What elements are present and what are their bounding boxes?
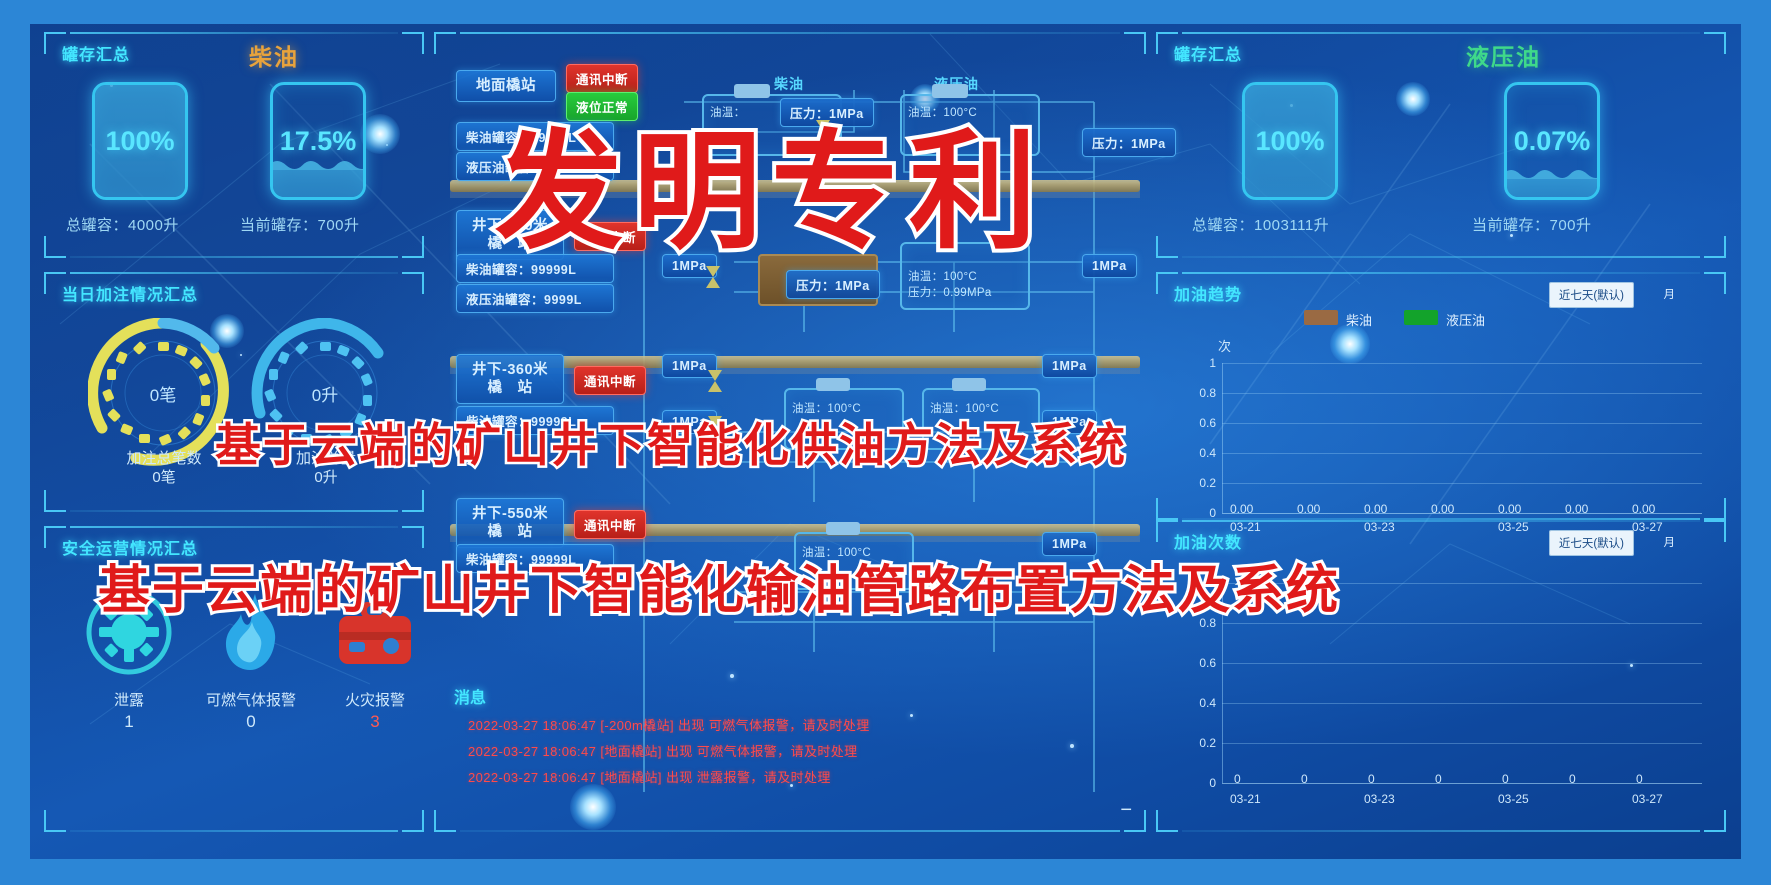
- trend-point-label: 0.00: [1632, 502, 1655, 516]
- count-gridline: [1222, 623, 1702, 624]
- safety-item-gas-alarm-value: 0: [186, 712, 316, 732]
- safety-item-gas-alarm: 可燃气体报警 0: [186, 586, 316, 732]
- message-log: 消息 2022-03-27 18:06:47 [-200m橇站] 出现 可燃气体…: [454, 684, 1124, 786]
- gear-icon: [83, 586, 175, 678]
- count-chart-title: 加油次数: [1174, 529, 1242, 553]
- station-2-comm-status: 通讯中断: [574, 222, 646, 251]
- safety-item-leak-value: 1: [74, 712, 184, 732]
- toolbox-icon: [329, 586, 421, 678]
- refuel-volume-gauge-value: 0升: [250, 318, 400, 468]
- station-1-hydraulic-tank-cap: [932, 84, 968, 98]
- left-total-tank-gauge: 100%: [92, 82, 188, 200]
- refuel-count-caption-label: 加注总笔数: [126, 450, 201, 467]
- count-axis-baseline: [1222, 783, 1702, 784]
- safety-item-gas-alarm-label: 可燃气体报警: [186, 689, 316, 710]
- count-point-label: 0: [1234, 772, 1241, 786]
- right-current-stock-label: 当前罐存：700升: [1472, 214, 1592, 235]
- station-3-valve-icon-2: [706, 414, 724, 440]
- station-1-diesel-tank-cap: [734, 84, 770, 98]
- station-3-tank-left-cap: [816, 378, 850, 391]
- station-3-valve-icon-1: [706, 368, 724, 394]
- station-4-tank: [794, 532, 914, 590]
- trend-point-label: 0.00: [1297, 502, 1320, 516]
- refuel-count-caption: 加注总笔数 0笔: [96, 450, 232, 488]
- station-1-diesel-capacity: 柴油罐容：99999L: [456, 122, 614, 151]
- station-4-name-line1: 井下-550米: [472, 506, 548, 522]
- count-x-tick: 03-27: [1632, 792, 1663, 806]
- station-2-name-line1: 井下-200米: [472, 218, 548, 234]
- count-y-tick: 0.2: [1180, 736, 1216, 750]
- station-3-temp-tag-right: 油温：100°C: [930, 400, 999, 416]
- count-gridline: [1222, 703, 1702, 704]
- station-3-diesel-capacity: 柴油罐容：99999L: [456, 406, 614, 435]
- station-2-pressure-2: 1MPa: [1082, 254, 1137, 278]
- trend-y-axis-unit: 次: [1218, 336, 1231, 355]
- refuel-volume-caption-label: 加注总量: [296, 450, 356, 467]
- station-3-temp-tag-left: 油温：100°C: [792, 400, 861, 416]
- station-4-tank-cap: [826, 522, 860, 535]
- left-safety-panel: 安全运营情况汇总: [44, 526, 424, 832]
- right-count-chart-panel: 加油次数 近七天(默认) 月 1 0.8 0.6 0.4 0.2 0 0 0 0…: [1156, 520, 1726, 832]
- count-y-tick: 1: [1180, 576, 1216, 590]
- message-log-line: 2022-03-27 18:06:47 [地面橇站] 出现 泄露报警，请及时处理: [468, 767, 1124, 786]
- station-4-name-line2: 橇 站: [488, 524, 533, 540]
- station-4-comm-status: 通讯中断: [574, 510, 646, 539]
- right-total-capacity-label: 总罐容：1003111升: [1192, 214, 1329, 235]
- flame-icon: [205, 586, 297, 678]
- trend-y-tick: 0.8: [1180, 386, 1216, 400]
- count-point-label: 0: [1301, 772, 1308, 786]
- refuel-count-gauge: 0笔: [88, 318, 238, 468]
- center-schematic-panel: 柴油 液压油 地面橇站 通讯中断 液位正常 柴油罐容：99999L 液压油罐容：…: [434, 32, 1146, 832]
- station-1-hyd-temp-tag: 油温：100°C: [908, 104, 977, 120]
- trend-point-label: 0.00: [1565, 502, 1588, 516]
- trend-y-tick: 0.6: [1180, 416, 1216, 430]
- trend-gridline: [1222, 363, 1702, 364]
- count-gridline: [1222, 743, 1702, 744]
- station-4-diesel-capacity: 柴油罐容：99999L: [456, 544, 614, 573]
- oil-header-diesel: 柴油: [774, 74, 804, 94]
- trend-gridline: [1222, 393, 1702, 394]
- station-1-comm-status: 通讯中断: [566, 64, 638, 93]
- refuel-volume-caption: 加注总量 0升: [258, 450, 394, 488]
- station-4-pressure-1: 1MPa: [1042, 532, 1097, 556]
- left-total-capacity-label: 总罐容：4000升: [66, 214, 179, 235]
- count-y-tick: 0: [1180, 776, 1216, 790]
- safety-item-leak-label: 泄露: [74, 689, 184, 710]
- trend-y-axis-line: [1222, 363, 1223, 513]
- trend-y-tick: 1: [1180, 356, 1216, 370]
- count-point-label: 0: [1569, 772, 1576, 786]
- trend-point-label: 0.00: [1230, 502, 1253, 516]
- trend-range-week-button[interactable]: 近七天(默认): [1549, 282, 1634, 308]
- trend-y-tick: 0.4: [1180, 446, 1216, 460]
- station-3-pressure-4: 1MPa: [1042, 410, 1097, 434]
- station-1-temp-tag: 油温：: [710, 104, 745, 120]
- right-total-tank-gauge: 100%: [1242, 82, 1338, 200]
- station-2-name-line2: 橇 站: [488, 236, 533, 252]
- count-x-tick: 03-21: [1230, 792, 1261, 806]
- trend-range-month-button[interactable]: 月: [1655, 282, 1685, 306]
- left-oil-type-label: 柴油: [249, 38, 299, 72]
- count-point-label: 0: [1636, 772, 1643, 786]
- station-3-tank-right-cap: [952, 378, 986, 391]
- refuel-count-caption-value: 0笔: [152, 469, 175, 486]
- safety-item-fire-alarm-value: 3: [320, 712, 430, 732]
- trend-point-label: 0.00: [1364, 502, 1387, 516]
- station-1-hydraulic-capacity: 液压油罐容：9999L: [456, 152, 614, 181]
- station-3-name-line1: 井下-360米: [472, 362, 548, 378]
- count-y-axis-line: [1222, 583, 1223, 783]
- right-tank-panel: 罐存汇总 液压油 100% 总罐容：1003111升 0.07% 当前罐存：70…: [1156, 32, 1726, 258]
- refuel-count-gauge-value: 0笔: [88, 318, 238, 468]
- station-3-comm-status: 通讯中断: [574, 366, 646, 395]
- trend-axis-baseline: [1222, 513, 1702, 514]
- count-y-tick: 0.6: [1180, 656, 1216, 670]
- ground-pipe-1: [450, 180, 1140, 192]
- count-y-tick: 0.4: [1180, 696, 1216, 710]
- trend-gridline: [1222, 423, 1702, 424]
- station-4-temp-tag: 油温：100°C: [802, 544, 871, 560]
- message-log-line: 2022-03-27 18:06:47 [地面橇站] 出现 可燃气体报警，请及时…: [468, 741, 1124, 760]
- station-1-valve-icon: [814, 118, 832, 144]
- count-gridline: [1222, 663, 1702, 664]
- count-point-label: 0: [1435, 772, 1442, 786]
- left-current-tank-gauge: 17.5%: [270, 82, 366, 200]
- right-current-tank-percent: 0.07%: [1507, 85, 1597, 197]
- dashboard-board: 罐存汇总 柴油 100% 总罐容：4000升 17.5% 当前罐存：700升: [30, 24, 1741, 859]
- trend-legend-label-diesel: 柴油: [1346, 310, 1372, 329]
- refuel-volume-caption-value: 0升: [314, 469, 337, 486]
- right-tank-panel-title: 罐存汇总: [1174, 41, 1242, 65]
- left-current-tank-percent: 17.5%: [273, 85, 363, 197]
- station-2-valve-icon: [704, 264, 722, 290]
- count-point-label: 0: [1368, 772, 1375, 786]
- count-range-week-button[interactable]: 近七天(默认): [1549, 530, 1634, 556]
- station-1-level-status: 液位正常: [566, 92, 638, 121]
- station-1-name[interactable]: 地面橇站: [456, 70, 556, 102]
- trend-chart-title: 加油趋势: [1174, 281, 1242, 305]
- trend-legend-swatch-hydraulic: [1404, 310, 1438, 325]
- left-safety-panel-title: 安全运营情况汇总: [62, 535, 198, 559]
- trend-y-tick: 0.2: [1180, 476, 1216, 490]
- safety-item-leak: 泄露 1: [74, 586, 184, 732]
- station-2-pressure-tag: 压力：0.99MPa: [908, 284, 992, 300]
- trend-y-tick: 0: [1180, 506, 1216, 520]
- left-current-stock-label: 当前罐存：700升: [240, 214, 360, 235]
- count-y-tick: 0.8: [1180, 616, 1216, 630]
- count-x-tick: 03-25: [1498, 792, 1529, 806]
- station-3-tank-left: [784, 388, 904, 450]
- station-3-name-line2: 橇 站: [488, 380, 533, 396]
- count-x-tick: 03-23: [1364, 792, 1395, 806]
- station-4-name[interactable]: 井下-550米 橇 站: [456, 498, 564, 548]
- station-2-hydraulic-capacity: 液压油罐容：9999L: [456, 284, 614, 313]
- trend-gridline: [1222, 483, 1702, 484]
- right-current-tank-gauge: 0.07%: [1504, 82, 1600, 200]
- station-2-diesel-capacity: 柴油罐容：99999L: [456, 254, 614, 283]
- right-oil-type-label: 液压油: [1466, 38, 1541, 72]
- left-refuel-panel: 当日加注情况汇总: [44, 272, 424, 512]
- left-tank-panel: 罐存汇总 柴油 100% 总罐容：4000升 17.5% 当前罐存：700升: [44, 32, 424, 258]
- left-total-tank-percent: 100%: [95, 85, 185, 197]
- station-2-temp-tag: 油温：100°C: [908, 268, 977, 284]
- trend-point-label: 0.00: [1431, 502, 1454, 516]
- left-tank-panel-title: 罐存汇总: [62, 41, 130, 65]
- trend-gridline: [1222, 453, 1702, 454]
- trend-legend-swatch-diesel: [1304, 310, 1338, 325]
- station-3-name[interactable]: 井下-360米 橇 站: [456, 354, 564, 404]
- station-2-pressure-3: 压力：1MPa: [786, 270, 880, 299]
- zoom-out-button[interactable]: −: [1120, 800, 1132, 820]
- count-point-label: 0: [1502, 772, 1509, 786]
- count-gridline: [1222, 583, 1702, 584]
- station-3-pressure-2: 1MPa: [1042, 354, 1097, 378]
- dashboard-screen: 罐存汇总 柴油 100% 总罐容：4000升 17.5% 当前罐存：700升: [0, 0, 1771, 885]
- safety-item-fire-alarm: 火灾报警 3: [320, 586, 430, 732]
- station-3-tank-right: [922, 388, 1040, 450]
- message-log-title: 消息: [454, 684, 1124, 708]
- refuel-volume-gauge: 0升: [250, 318, 400, 468]
- trend-legend-label-hydraulic: 液压油: [1446, 310, 1485, 329]
- right-total-tank-percent: 100%: [1245, 85, 1335, 197]
- safety-item-fire-alarm-label: 火灾报警: [320, 689, 430, 710]
- station-2-name[interactable]: 井下-200米 橇 站: [456, 210, 564, 260]
- left-refuel-panel-title: 当日加注情况汇总: [62, 281, 198, 305]
- message-log-line: 2022-03-27 18:06:47 [-200m橇站] 出现 可燃气体报警，…: [468, 715, 1124, 734]
- right-trend-chart-panel: 加油趋势 近七天(默认) 月 柴油 液压油 次 1 0.8 0.6 0.4 0.…: [1156, 272, 1726, 520]
- trend-point-label: 0.00: [1498, 502, 1521, 516]
- count-range-month-button[interactable]: 月: [1655, 530, 1685, 554]
